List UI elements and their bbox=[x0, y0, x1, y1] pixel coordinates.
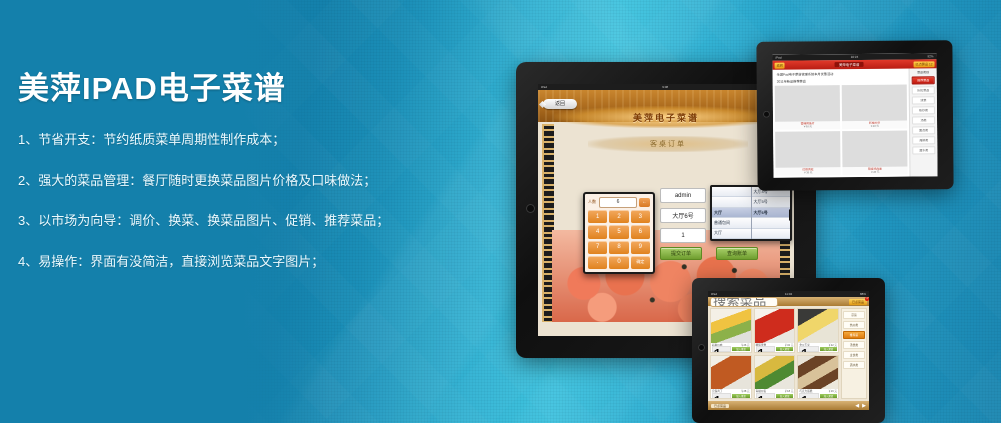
keypad-key[interactable]: 4 bbox=[588, 225, 607, 238]
keypad-label: 人数 bbox=[588, 199, 597, 205]
quantity-stepper[interactable]: 1 bbox=[712, 346, 731, 352]
add-to-cart-button[interactable]: 加入菜篮 bbox=[776, 394, 793, 398]
dish-actions: 1 加入菜篮 bbox=[798, 347, 838, 352]
dish-grid: 彩椒炒肉 ￥26 元 1 加入菜篮 糖醋里脊 bbox=[710, 308, 839, 399]
sidebar-item-seafood[interactable]: 海鲜类 bbox=[912, 136, 935, 144]
dish-actions: 1 加入菜篮 bbox=[755, 347, 795, 352]
feature-bullet-2: 2、强大的菜品管理：餐厅随时更换菜品图片价格及口味做法； bbox=[18, 173, 448, 189]
dish-photo bbox=[798, 356, 838, 390]
dropdown-row[interactable] bbox=[712, 187, 751, 197]
category-sidebar: 菜品类别 推荐菜品 折扣菜品 凉菜 热炒类 汤类 面点类 海鲜类 酒水类 bbox=[909, 68, 938, 176]
sidebar-item-drinks[interactable]: 酒水类 bbox=[843, 361, 865, 369]
keypad-key[interactable]: 3 bbox=[631, 210, 650, 223]
tablet-top-right-screen: iPad 10:24 92% 返回 美萍电子菜谱 已点菜品 12 全国Pad电子… bbox=[772, 53, 937, 177]
cart-badge: 3 bbox=[865, 297, 869, 301]
dish-photo bbox=[798, 309, 838, 343]
add-to-cart-button[interactable]: 加入菜篮 bbox=[820, 394, 837, 398]
tablet-device-top-right: iPad 10:24 92% 返回 美萍电子菜谱 已点菜品 12 全国Pad电子… bbox=[756, 40, 953, 191]
dish-catalog-app: iPad 10:24 92% 返回 美萍电子菜谱 已点菜品 12 全国Pad电子… bbox=[772, 53, 937, 177]
sidebar-item-staple[interactable]: 主食类 bbox=[843, 351, 865, 359]
dish-actions: 1 加入菜篮 bbox=[711, 393, 751, 398]
add-to-cart-button[interactable]: 加入菜篮 bbox=[732, 394, 749, 398]
keypad-key[interactable]: 2 bbox=[609, 210, 628, 223]
catalog-body: 全国Pad电子菜谱管理系统本月优惠活动 2011年新品推荐菜品 香辣烤鱼片 ￥6… bbox=[773, 68, 938, 177]
dish-actions: 1 加入菜篮 bbox=[711, 347, 751, 352]
sidebar-item-discount[interactable]: 折扣菜品 bbox=[912, 86, 935, 94]
status-carrier: iPad bbox=[541, 86, 547, 89]
app-subtitle: 客桌订单 bbox=[650, 139, 686, 149]
quantity-stepper[interactable]: 1 bbox=[799, 393, 818, 399]
dish-grid-panel: 全国Pad电子菜谱管理系统本月优惠活动 2011年新品推荐菜品 香辣烤鱼片 ￥6… bbox=[773, 69, 910, 178]
keypad-display: 6 bbox=[599, 197, 637, 208]
dropdown-caret-icon bbox=[789, 209, 792, 221]
dish-browse-app: iPad 11:02 88% 已点菜品 3 bbox=[708, 291, 869, 410]
keypad-key[interactable]: 6 bbox=[631, 225, 650, 238]
status-time: 10:24 bbox=[851, 55, 859, 58]
dropdown-row[interactable] bbox=[712, 197, 751, 207]
people-field[interactable]: 1 bbox=[660, 228, 706, 243]
app-header-bar: 返回 美萍电子菜谱 已点菜品 12 bbox=[773, 59, 937, 69]
keypad-delete-icon[interactable]: ← bbox=[639, 198, 650, 207]
page-title: 美萍IPAD电子菜谱 bbox=[18, 72, 448, 106]
dish-photo bbox=[755, 356, 795, 390]
app-title-ribbon: 美萍电子菜谱 bbox=[554, 106, 778, 128]
category-sidebar: 凉菜 热炒类 推荐菜 汤羹类 主食类 酒水类 bbox=[841, 308, 867, 399]
dish-actions: 1 加入菜篮 bbox=[798, 393, 838, 398]
app-subtitle-ribbon: 客桌订单 bbox=[588, 136, 748, 152]
dish-photo bbox=[711, 356, 751, 390]
feature-bullet-3: 3、以市场为向导：调价、换菜、换菜品图片、促销、推荐菜品； bbox=[18, 213, 448, 229]
dish-grid: 香辣烤鱼片 ￥68 元 彩椒炒虾 ￥48 元 红烧肉粒 bbox=[775, 84, 908, 176]
keypad-key[interactable]: 9 bbox=[631, 241, 650, 254]
dish-card[interactable]: 红烧肉粒 ￥38 元 bbox=[775, 131, 840, 176]
dish-photo bbox=[775, 85, 840, 122]
dish-card[interactable]: 香辣烤鱼片 ￥68 元 bbox=[775, 85, 840, 130]
table-field[interactable]: 大厅6号 bbox=[660, 208, 706, 223]
dish-price: ￥48 元 bbox=[842, 124, 907, 129]
dropdown-row[interactable]: 普通包间 bbox=[712, 218, 751, 228]
pager-controls: ◀ ▶ bbox=[855, 403, 866, 409]
prev-page-icon[interactable]: ◀ bbox=[855, 403, 859, 409]
dropdown-area-column: 大厅 普通包间 大厅 bbox=[712, 187, 752, 239]
keypad-grid: 1 2 3 4 5 6 7 8 9 . 0 确定 bbox=[588, 210, 650, 269]
dish-price: ￥28 元 bbox=[842, 171, 907, 176]
submit-order-button[interactable]: 提交订单 bbox=[660, 247, 702, 260]
sidebar-title: 菜品类别 bbox=[912, 70, 935, 74]
sidebar-item-recommended[interactable]: 推荐菜品 bbox=[912, 76, 935, 84]
feature-bullet-4: 4、易操作：界面有没简洁，直接浏览菜品文字图片； bbox=[18, 254, 448, 270]
tablet-bottom-right-screen: iPad 11:02 88% 已点菜品 3 bbox=[708, 291, 869, 410]
quantity-stepper[interactable]: 1 bbox=[756, 346, 775, 352]
footer-cart-label[interactable]: 已点菜品 bbox=[711, 404, 729, 408]
home-button-icon[interactable] bbox=[763, 111, 770, 118]
status-carrier: iPad bbox=[775, 56, 781, 59]
header-title: 美萍电子菜谱 bbox=[835, 62, 863, 67]
numeric-keypad[interactable]: 人数 6 ← 1 2 3 4 5 6 7 8 9 . bbox=[583, 192, 655, 274]
dropdown-row[interactable]: 大厅5号 bbox=[752, 197, 791, 207]
keypad-key[interactable]: 8 bbox=[609, 241, 628, 254]
cart-button[interactable]: 已点菜品 12 bbox=[913, 61, 934, 67]
dish-photo bbox=[755, 309, 795, 343]
keypad-key[interactable]: 5 bbox=[609, 225, 628, 238]
keypad-key[interactable]: 7 bbox=[588, 241, 607, 254]
sidebar-item-stirfry[interactable]: 热炒类 bbox=[912, 106, 935, 114]
back-button[interactable]: 返回 bbox=[775, 62, 785, 68]
sidebar-item-drinks[interactable]: 酒水类 bbox=[912, 146, 935, 154]
dish-actions: 1 加入菜篮 bbox=[755, 393, 795, 398]
dish-card[interactable]: 照烧鸡肉面 ￥28 元 bbox=[842, 130, 907, 175]
dish-card[interactable]: 青椒炒蛋 ￥18 元 1 加入菜篮 bbox=[754, 355, 796, 400]
home-button-icon[interactable] bbox=[526, 204, 535, 213]
cart-label: 已点菜品 bbox=[852, 300, 864, 304]
dish-card[interactable]: 宫保鸡丁 ￥28 元 1 加入菜篮 bbox=[710, 355, 752, 400]
add-to-cart-button[interactable]: 加入菜篮 bbox=[820, 347, 837, 351]
quantity-stepper[interactable]: 1 bbox=[756, 393, 775, 399]
dish-card[interactable]: 金沙玉米 ￥22 元 1 加入菜篮 bbox=[797, 308, 839, 353]
dish-price: ￥68 元 bbox=[775, 125, 840, 130]
marketing-copy: 美萍IPAD电子菜谱 1、节省开支：节约纸质菜单周期性制作成本； 2、强大的菜品… bbox=[18, 72, 448, 294]
dish-card[interactable]: 彩椒炒肉 ￥26 元 1 加入菜篮 bbox=[710, 308, 752, 353]
quantity-stepper[interactable]: 1 bbox=[712, 393, 731, 399]
dish-price: ￥38 元 bbox=[775, 171, 840, 176]
search-input[interactable] bbox=[710, 297, 778, 307]
dish-card[interactable]: 巧克力蛋糕 ￥16 元 1 加入菜篮 bbox=[797, 355, 839, 400]
dropdown-row[interactable] bbox=[752, 218, 791, 228]
app-header-bar: 已点菜品 3 bbox=[708, 297, 869, 306]
feature-bullet-1: 1、节省开支：节约纸质菜单周期性制作成本； bbox=[18, 132, 448, 148]
dropdown-row-selected[interactable]: 大厅6号 bbox=[752, 208, 791, 218]
app-footer-bar: 已点菜品 ◀ ▶ bbox=[708, 401, 869, 410]
keypad-key[interactable]: . bbox=[588, 256, 607, 269]
sidebar-item-pastry[interactable]: 面点类 bbox=[912, 126, 935, 134]
table-select-dropdown[interactable]: 大厅 普通包间 大厅 大厅4号 大厅5号 大厅6号 bbox=[710, 185, 792, 241]
dish-photo bbox=[711, 309, 751, 343]
status-time: 9:08 bbox=[662, 86, 668, 89]
dish-photo bbox=[842, 84, 907, 121]
browse-body: 彩椒炒肉 ￥26 元 1 加入菜篮 糖醋里脊 bbox=[708, 306, 869, 401]
dish-card[interactable]: 糖醋里脊 ￥32 元 1 加入菜篮 bbox=[754, 308, 796, 353]
dish-photo bbox=[775, 131, 840, 168]
status-carrier: iPad bbox=[711, 293, 717, 296]
sidebar-item-recommended[interactable]: 推荐菜 bbox=[843, 331, 865, 339]
keypad-key[interactable]: 1 bbox=[588, 210, 607, 223]
status-battery: 92% bbox=[927, 55, 933, 58]
sidebar-item-soup[interactable]: 汤类 bbox=[912, 116, 935, 124]
keypad-display-row: 人数 6 ← bbox=[588, 197, 650, 207]
tablet-device-bottom-right: iPad 11:02 88% 已点菜品 3 bbox=[692, 278, 885, 423]
status-battery: 88% bbox=[860, 293, 866, 296]
add-to-cart-button[interactable]: 加入菜篮 bbox=[776, 347, 793, 351]
keypad-key[interactable]: 0 bbox=[609, 256, 628, 269]
operator-field[interactable]: admin bbox=[660, 188, 706, 203]
sidebar-item-cold[interactable]: 凉菜 bbox=[843, 311, 865, 319]
quantity-stepper[interactable]: 1 bbox=[799, 346, 818, 352]
keypad-confirm-key[interactable]: 确定 bbox=[631, 256, 650, 269]
dropdown-row[interactable] bbox=[752, 229, 791, 239]
dropdown-row-selected[interactable]: 大厅 bbox=[712, 208, 751, 218]
dropdown-row[interactable]: 大厅 bbox=[712, 229, 751, 239]
add-to-cart-button[interactable]: 加入菜篮 bbox=[732, 347, 749, 351]
dish-photo bbox=[842, 130, 907, 167]
status-time: 11:02 bbox=[785, 293, 792, 296]
dropdown-table-column: 大厅4号 大厅5号 大厅6号 bbox=[752, 187, 791, 239]
dish-card[interactable]: 彩椒炒虾 ￥48 元 bbox=[842, 84, 907, 129]
sidebar-item-cold[interactable]: 凉菜 bbox=[912, 96, 935, 104]
query-bill-button[interactable]: 查询账单 bbox=[716, 247, 758, 260]
app-title: 美萍电子菜谱 bbox=[633, 111, 699, 124]
home-button-icon[interactable] bbox=[698, 344, 705, 351]
sidebar-item-soup[interactable]: 汤羹类 bbox=[843, 341, 865, 349]
sidebar-item-stirfry[interactable]: 热炒类 bbox=[843, 321, 865, 329]
promo-banner: 美萍IPAD电子菜谱 1、节省开支：节约纸质菜单周期性制作成本； 2、强大的菜品… bbox=[0, 0, 1001, 423]
next-page-icon[interactable]: ▶ bbox=[862, 403, 866, 409]
cart-button[interactable]: 已点菜品 3 bbox=[849, 299, 867, 305]
